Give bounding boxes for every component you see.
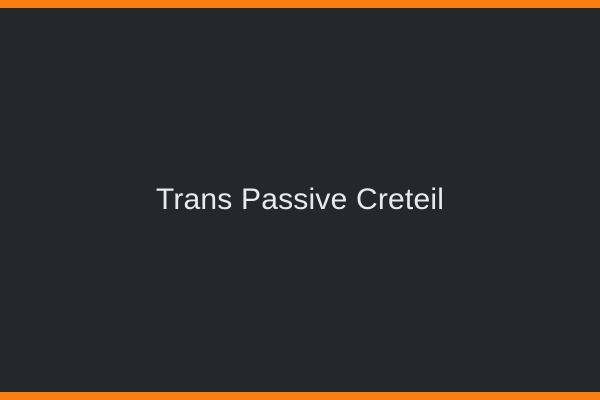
caption-area: Trans Passive Creteil — [0, 0, 600, 400]
placeholder-card: Trans Passive Creteil — [0, 0, 600, 400]
bottom-accent-bar — [0, 392, 600, 400]
placeholder-caption: Trans Passive Creteil — [156, 182, 444, 218]
